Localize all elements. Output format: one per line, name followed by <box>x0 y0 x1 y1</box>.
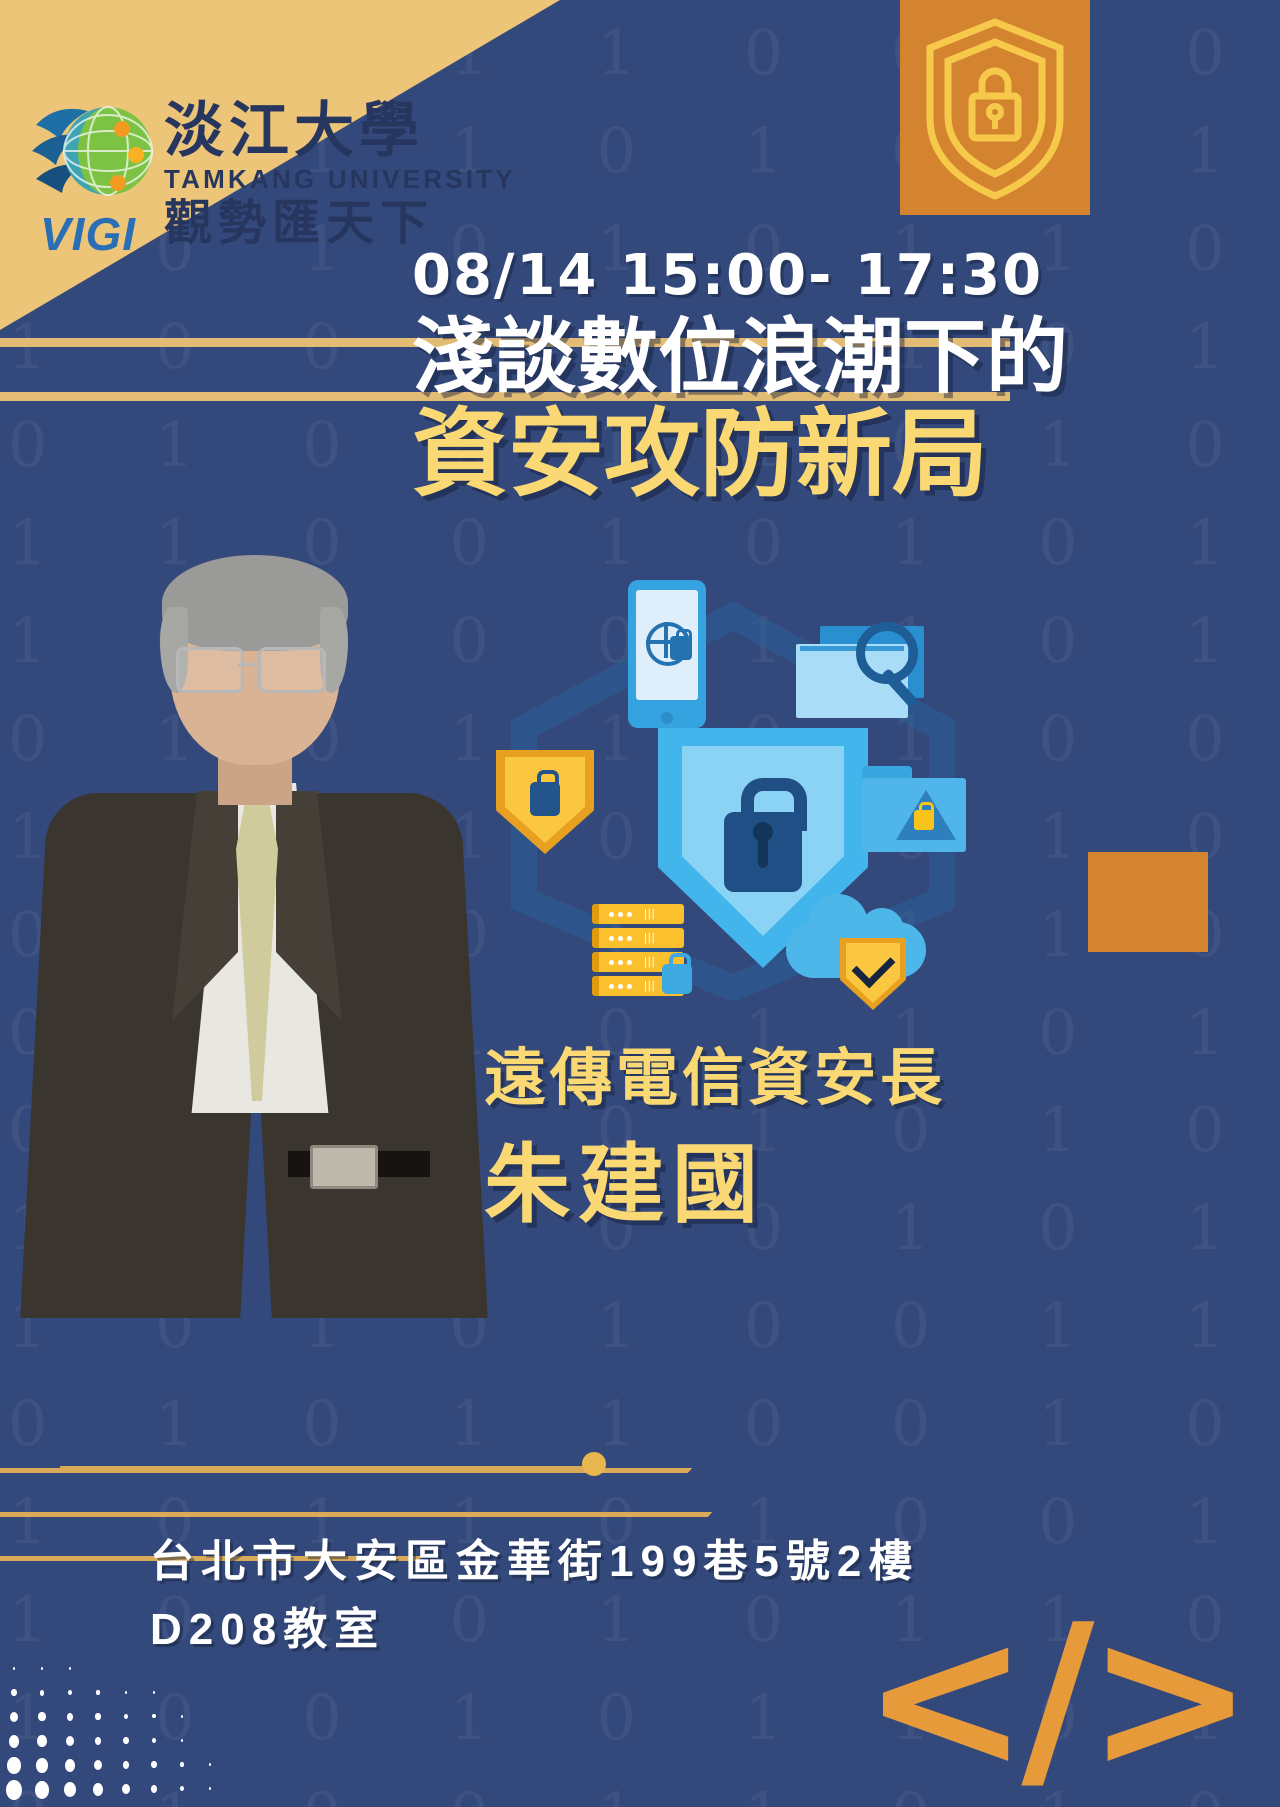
halftone-dot <box>94 1760 102 1771</box>
halftone-dot <box>37 1735 46 1747</box>
halftone-dot <box>96 1690 99 1694</box>
gold-diagonal-line-2 <box>0 1512 712 1517</box>
halftone-dot <box>36 1758 48 1773</box>
halftone-dot <box>40 1690 45 1696</box>
halftone-dot <box>180 1762 184 1767</box>
gold-horizontal-line <box>60 1466 600 1471</box>
mail-scan-icon <box>796 626 928 718</box>
halftone-dot <box>65 1759 75 1772</box>
poster-header: 08/14 15:00- 17:30 淺談數位浪潮下的 資安攻防新局 <box>412 247 1102 507</box>
lock-glyph <box>530 782 560 816</box>
halftone-dot <box>151 1761 156 1768</box>
check-shield <box>840 938 906 1010</box>
security-icon-cluster: ||| ||| ||| ||| <box>480 560 1000 1030</box>
halftone-dot <box>38 1712 45 1721</box>
halftone-dot <box>64 1782 76 1797</box>
folder-lock-icon <box>862 766 966 852</box>
vigi-wordmark: VIGI <box>40 207 136 261</box>
halftone-dot <box>123 1737 128 1744</box>
halftone-dot <box>67 1713 73 1721</box>
halftone-dot <box>35 1781 49 1799</box>
halftone-dot <box>95 1713 100 1719</box>
halftone-dot <box>6 1780 22 1800</box>
halftone-dot <box>69 1667 71 1670</box>
halftone-dot <box>11 1689 16 1696</box>
halftone-dot <box>9 1735 20 1748</box>
brand-slogan: 觀勢匯天下 <box>164 198 516 248</box>
halftone-dot <box>181 1715 183 1718</box>
halftone-dot <box>125 1691 128 1694</box>
server-lock-icon: ||| ||| ||| ||| <box>592 904 690 1004</box>
halftone-dot <box>181 1739 184 1743</box>
shield-lock-icon <box>900 0 1090 215</box>
halftone-dot <box>95 1737 102 1745</box>
halftone-dot <box>41 1667 43 1670</box>
glasses-left-lens <box>176 647 244 693</box>
lock-glyph <box>662 964 692 994</box>
halftone-dot <box>209 1787 211 1790</box>
halftone-dot <box>7 1757 20 1774</box>
lock-glyph <box>670 636 692 660</box>
shield-small-lock-icon <box>496 750 594 854</box>
halftone-dot <box>10 1712 18 1722</box>
code-bracket-icon: </> <box>862 1619 1246 1779</box>
halftone-dot <box>68 1690 72 1695</box>
title-line-1: 淺談數位浪潮下的 <box>412 312 1102 404</box>
orange-block-right <box>1088 852 1208 952</box>
keyhole <box>758 834 768 868</box>
server-unit: ||| <box>592 928 684 948</box>
server-unit: ||| <box>592 904 684 924</box>
speaker-portrait <box>20 555 490 1315</box>
event-date-time: 08/14 15:00- 17:30 <box>412 247 1102 306</box>
title-line-2: 資安攻防新局 <box>412 402 1102 508</box>
cloud-check-icon <box>786 900 936 1010</box>
halftone-dot <box>93 1783 103 1796</box>
speaker-name: 朱建國 <box>484 1132 1084 1240</box>
gold-dot-node <box>582 1452 606 1476</box>
halftone-dot-pattern <box>6 1636 246 1806</box>
halftone-dot <box>151 1785 157 1793</box>
speaker-role: 遠傳電信資安長 <box>484 1040 1084 1118</box>
orange-panel-top-right <box>900 0 1090 215</box>
halftone-dot <box>122 1784 130 1794</box>
halftone-dot <box>152 1714 155 1718</box>
tamkang-vigi-logo: VIGI 淡江大學 TAMKANG UNIVERSITY 觀勢匯天下 <box>26 95 516 255</box>
halftone-dot <box>124 1714 128 1719</box>
glasses-bridge <box>238 663 258 666</box>
lock-glyph <box>724 812 802 892</box>
phone-home-button <box>661 712 673 724</box>
halftone-dot <box>123 1761 130 1770</box>
belt-buckle <box>310 1145 378 1189</box>
glasses-right-lens <box>258 647 326 693</box>
halftone-dot <box>209 1763 211 1766</box>
university-name-cn: 淡江大學 <box>164 101 516 161</box>
halftone-dot <box>152 1738 156 1743</box>
logo-mark-icon: VIGI <box>26 95 158 255</box>
lock-glyph <box>914 810 934 830</box>
phone-secure-icon <box>628 580 706 728</box>
speaker-info: 遠傳電信資安長 朱建國 <box>484 1040 1084 1239</box>
halftone-dot <box>13 1667 16 1670</box>
halftone-dot <box>153 1691 155 1694</box>
event-poster: 0 1 0 1 1 0 0 1 0 1 0 1 1 0 1 0 0 1 1 0 … <box>0 0 1280 1807</box>
halftone-dot <box>180 1786 184 1791</box>
university-name-en: TAMKANG UNIVERSITY <box>164 162 516 197</box>
halftone-dot <box>66 1736 74 1746</box>
